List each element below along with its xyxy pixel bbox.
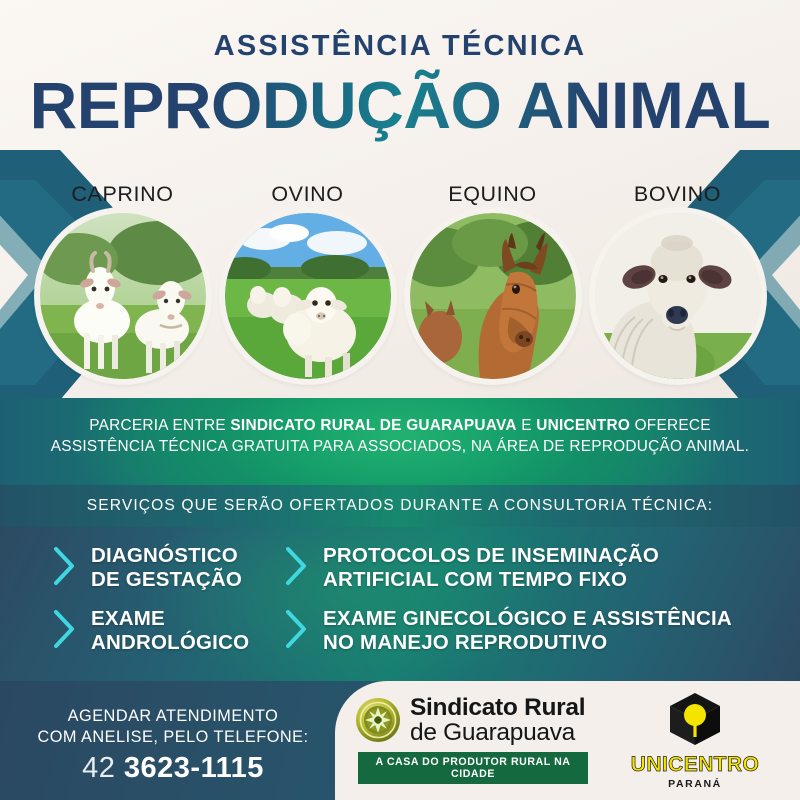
sindicato-logo-row: Sindicato Rural de Guarapuava [355, 695, 600, 745]
animal-card-bovino: BOVINO [595, 182, 761, 382]
services-section: DIAGNÓSTICO DE GESTAÇÃO PROTOCOLOS DE IN… [0, 527, 800, 681]
chevron-right-icon [284, 545, 310, 587]
service-line-2: DE GESTAÇÃO [91, 568, 242, 592]
partnership-line-2: ASSISTÊNCIA TÉCNICA GRATUITA PARA ASSOCI… [0, 436, 800, 457]
header-section: ASSISTÊNCIA TÉCNICA REPRODUÇÃO ANIMAL CA… [0, 0, 800, 398]
service-line-1: EXAME GINECOLÓGICO E ASSISTÊNCIA [323, 607, 732, 631]
animal-label: OVINO [225, 182, 391, 207]
sindicato-emblem-icon [355, 697, 401, 743]
cow-photo [595, 213, 761, 379]
logos-panel: Sindicato Rural de Guarapuava A CASA DO … [335, 681, 800, 800]
service-line-1: DIAGNÓSTICO [91, 544, 242, 568]
sindicato-name-line-2: de Guarapuava [410, 720, 585, 745]
chevron-right-icon [284, 608, 310, 650]
title-block: ASSISTÊNCIA TÉCNICA REPRODUÇÃO ANIMAL [0, 30, 800, 143]
animal-label: BOVINO [595, 182, 761, 207]
phone-number[interactable]: 42 3623-1115 [28, 752, 318, 785]
partnership-org-unicentro: UNICENTRO [536, 417, 630, 434]
animal-label: EQUINO [410, 182, 576, 207]
chevron-right-icon [52, 545, 78, 587]
contact-line-1: AGENDAR ATENDIMENTO [28, 706, 318, 727]
contact-line-2: COM ANELISE, PELO TELEFONE: [28, 727, 318, 748]
unicentro-state: PARANÁ [625, 778, 765, 790]
unicentro-wordmark: UNICENTRO [625, 753, 765, 777]
poster: ASSISTÊNCIA TÉCNICA REPRODUÇÃO ANIMAL CA… [0, 0, 800, 800]
partnership-band: PARCERIA ENTRE SINDICATO RURAL DE GUARAP… [0, 398, 800, 485]
service-text: DIAGNÓSTICO DE GESTAÇÃO [91, 544, 242, 591]
service-text: EXAME GINECOLÓGICO E ASSISTÊNCIA NO MANE… [323, 607, 732, 654]
partnership-org-sindicato: SINDICATO RURAL DE GUARAPUAVA [230, 417, 516, 434]
services-heading-band: SERVIÇOS QUE SERÃO OFERTADOS DURANTE A C… [0, 485, 800, 527]
phone-area-code: 42 [82, 752, 115, 784]
service-item-exame-ginecologico: EXAME GINECOLÓGICO E ASSISTÊNCIA NO MANE… [284, 607, 732, 654]
unicentro-logo: UNICENTRO PARANÁ [625, 691, 765, 790]
sheep-photo [225, 213, 391, 379]
service-line-2: ANDROLÓGICO [91, 631, 249, 655]
sindicato-tagline: A CASA DO PRODUTOR RURAL NA CIDADE [358, 752, 588, 784]
services-row-2: EXAME ANDROLÓGICO EXAME GINECOLÓGICO E A… [52, 607, 772, 654]
partnership-text: PARCERIA ENTRE SINDICATO RURAL DE GUARAP… [0, 415, 800, 457]
page-title: REPRODUÇÃO ANIMAL [0, 67, 800, 143]
contact-block: AGENDAR ATENDIMENTO COM ANELISE, PELO TE… [28, 706, 318, 785]
service-line-2: NO MANEJO REPRODUTIVO [323, 631, 732, 655]
goat-photo [40, 213, 206, 379]
kicker-text: ASSISTÊNCIA TÉCNICA [0, 30, 800, 63]
services-grid: DIAGNÓSTICO DE GESTAÇÃO PROTOCOLOS DE IN… [52, 544, 772, 670]
animal-card-ovino: OVINO [225, 182, 391, 382]
sindicato-name: Sindicato Rural de Guarapuava [410, 695, 585, 745]
service-text: EXAME ANDROLÓGICO [91, 607, 249, 654]
partnership-mid: E [517, 417, 537, 434]
service-item-diagnostico: DIAGNÓSTICO DE GESTAÇÃO [52, 544, 284, 591]
services-row-1: DIAGNÓSTICO DE GESTAÇÃO PROTOCOLOS DE IN… [52, 544, 772, 591]
service-text: PROTOCOLOS DE INSEMINAÇÃO ARTIFICIAL COM… [323, 544, 659, 591]
service-line-2: ARTIFICIAL COM TEMPO FIXO [323, 568, 659, 592]
unicentro-cube-icon [664, 691, 726, 747]
service-line-1: PROTOCOLOS DE INSEMINAÇÃO [323, 544, 659, 568]
partnership-pre: PARCERIA ENTRE [89, 417, 230, 434]
animal-card-equino: EQUINO [410, 182, 576, 382]
animal-category-list: CAPRINO [0, 182, 800, 382]
sindicato-rural-logo: Sindicato Rural de Guarapuava A CASA DO … [355, 695, 600, 784]
service-item-protocolos: PROTOCOLOS DE INSEMINAÇÃO ARTIFICIAL COM… [284, 544, 659, 591]
animal-card-caprino: CAPRINO [40, 182, 206, 382]
sindicato-name-line-1: Sindicato Rural [410, 695, 585, 720]
partnership-post: OFERECE [630, 417, 711, 434]
service-item-exame-andrologico: EXAME ANDROLÓGICO [52, 607, 284, 654]
services-heading: SERVIÇOS QUE SERÃO OFERTADOS DURANTE A C… [0, 485, 800, 515]
chevron-right-icon [52, 608, 78, 650]
service-line-1: EXAME [91, 607, 249, 631]
horse-photo [410, 213, 576, 379]
animal-label: CAPRINO [40, 182, 206, 207]
partnership-line-1: PARCERIA ENTRE SINDICATO RURAL DE GUARAP… [0, 415, 800, 436]
phone-main: 3623-1115 [124, 752, 264, 784]
